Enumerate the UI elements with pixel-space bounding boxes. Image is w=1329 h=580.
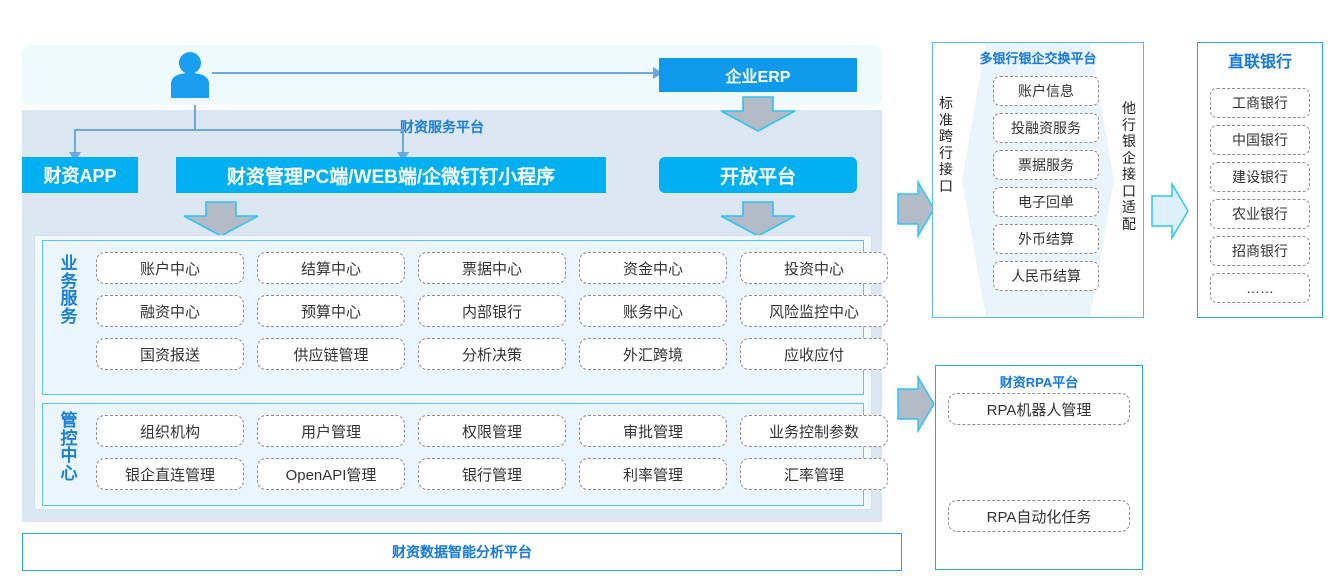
management-center-chip[interactable]: 用户管理 [257, 415, 405, 447]
business-service-chip[interactable]: 应收应付 [740, 338, 888, 370]
user-icon [168, 50, 212, 98]
multi-bank-service-chip[interactable]: 账户信息 [993, 76, 1099, 106]
rpa-robot-management-chip[interactable]: RPA机器人管理 [948, 393, 1130, 425]
business-service-chip[interactable]: 外汇跨境 [579, 338, 727, 370]
multi-bank-service-chip[interactable]: 电子回单 [993, 187, 1099, 217]
arrow-right-rpa-icon [896, 375, 936, 433]
arrow-down-open-icon [719, 200, 797, 238]
direct-bank-chip[interactable]: 中国银行 [1210, 125, 1310, 155]
business-services-grid: 账户中心结算中心票据中心资金中心投资中心融资中心预算中心内部银行账务中心风险监控… [96, 252, 878, 388]
business-service-chip[interactable]: 票据中心 [418, 252, 566, 284]
business-service-chip[interactable]: 分析决策 [418, 338, 566, 370]
finance-pc-web-button[interactable]: 财资管理PC端/WEB端/企微钉钉小程序 [176, 157, 606, 193]
management-center-chip[interactable]: 审批管理 [579, 415, 727, 447]
open-platform-button[interactable]: 开放平台 [659, 157, 857, 193]
connector-to-pc [402, 129, 404, 152]
management-center-chip[interactable]: 利率管理 [579, 458, 727, 490]
connector-horizontal [74, 129, 404, 131]
multi-bank-service-chip[interactable]: 人民币结算 [993, 261, 1099, 291]
arrow-right-directbank-icon [1150, 182, 1190, 240]
business-services-label: 业务服务 [56, 255, 82, 326]
management-center-chip[interactable]: OpenAPI管理 [257, 458, 405, 490]
finance-app-button[interactable]: 财资APP [22, 157, 138, 193]
business-service-chip[interactable]: 融资中心 [96, 295, 244, 327]
management-center-chip[interactable]: 权限管理 [418, 415, 566, 447]
multi-bank-service-chip[interactable]: 外币结算 [993, 224, 1099, 254]
direct-bank-chip[interactable]: 建设银行 [1210, 162, 1310, 192]
management-center-grid: 组织机构用户管理权限管理审批管理业务控制参数银企直连管理OpenAPI管理银行管… [96, 415, 878, 497]
other-bank-adapter-label: 他行银企接口适配 [1118, 100, 1140, 232]
connector-vertical-main [194, 105, 196, 130]
direct-banks-items: 工商银行中国银行建设银行农业银行招商银行…… [1210, 88, 1310, 310]
business-service-chip[interactable]: 账务中心 [579, 295, 727, 327]
business-service-chip[interactable]: 结算中心 [257, 252, 405, 284]
business-service-chip[interactable]: 风险监控中心 [740, 295, 888, 327]
standard-interbank-interface-label: 标准跨行接口 [935, 95, 957, 194]
business-service-chip[interactable]: 账户中心 [96, 252, 244, 284]
management-center-chip[interactable]: 业务控制参数 [740, 415, 888, 447]
business-service-chip[interactable]: 预算中心 [257, 295, 405, 327]
service-platform-title: 财资服务平台 [400, 117, 484, 137]
business-service-chip[interactable]: 供应链管理 [257, 338, 405, 370]
management-center-chip[interactable]: 银企直连管理 [96, 458, 244, 490]
multi-bank-service-chip[interactable]: 票据服务 [993, 150, 1099, 180]
connector-to-app [74, 129, 76, 152]
management-center-chip[interactable]: 银行管理 [418, 458, 566, 490]
direct-bank-chip[interactable]: 农业银行 [1210, 199, 1310, 229]
business-service-chip[interactable]: 内部银行 [418, 295, 566, 327]
management-center-chip[interactable]: 汇率管理 [740, 458, 888, 490]
multi-bank-service-chip[interactable]: 投融资服务 [993, 113, 1099, 143]
business-service-chip[interactable]: 资金中心 [579, 252, 727, 284]
direct-bank-chip[interactable]: 招商银行 [1210, 236, 1310, 266]
rpa-automation-task-chip[interactable]: RPA自动化任务 [948, 500, 1130, 532]
arrow-down-app-icon [182, 200, 260, 238]
management-center-chip[interactable]: 组织机构 [96, 415, 244, 447]
arrow-right-multibank-icon [896, 180, 936, 238]
arrow-down-erp-icon [719, 95, 797, 133]
rpa-platform-title: 财资RPA平台 [935, 372, 1143, 391]
direct-bank-chip[interactable]: …… [1210, 273, 1310, 303]
user-to-erp-connector [212, 72, 662, 74]
direct-banks-title: 直联银行 [1197, 48, 1323, 72]
management-center-label: 管控中心 [56, 412, 82, 483]
direct-bank-chip[interactable]: 工商银行 [1210, 88, 1310, 118]
analysis-platform-bar[interactable]: 财资数据智能分析平台 [22, 533, 902, 571]
business-service-chip[interactable]: 国资报送 [96, 338, 244, 370]
business-service-chip[interactable]: 投资中心 [740, 252, 888, 284]
enterprise-erp-box[interactable]: 企业ERP [659, 58, 857, 92]
multi-bank-items: 账户信息投融资服务票据服务电子回单外币结算人民币结算 [993, 76, 1099, 298]
multi-bank-title: 多银行银企交换平台 [932, 48, 1144, 67]
